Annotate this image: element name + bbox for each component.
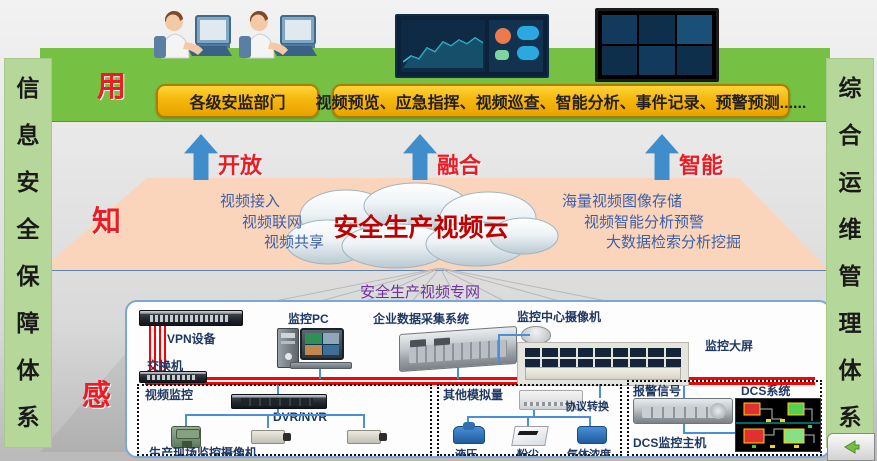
alarm-signal-label: 报警信号: [633, 382, 681, 399]
sense-layer-panel: VPN设备 交换机 监控PC 企业数据采集系统: [125, 300, 831, 458]
user-at-computer-illustration-2: [237, 6, 321, 64]
dcs-system-label: DCS系统: [741, 382, 790, 399]
other-analog-label: 其他模拟量: [443, 386, 503, 403]
arrow-label-intelligent: 智能: [679, 148, 723, 180]
hydraulic-sensor: [453, 426, 485, 444]
analog-bus-v: [533, 410, 535, 418]
vpn-label: VPN设备: [167, 330, 216, 347]
left-panel-char-4: 全: [17, 218, 40, 241]
data-collect-label: 企业数据采集系统: [373, 310, 469, 327]
center-camera-link-line-v: [498, 334, 500, 364]
data-collect-link-line: [457, 368, 459, 379]
layer-key-know: 知: [92, 198, 122, 240]
cloud-title: 安全生产视频云: [276, 182, 566, 270]
arrow-up-icon-fusion: [403, 134, 437, 180]
analog-bus-h: [467, 416, 591, 418]
left-panel-char-2: 息: [17, 124, 40, 147]
center-camera-link-line: [498, 334, 530, 336]
gas-density-sensor: [577, 426, 607, 444]
dcs-host-label: DCS监控主机: [633, 434, 706, 451]
switch-label: 交换机: [147, 357, 183, 374]
center-camera-label: 监控中心摄像机: [517, 308, 601, 325]
site-camera-label: 生产现场监控摄像机: [149, 444, 257, 458]
right-panel-char-7: 体: [839, 359, 862, 382]
right-panel-char-6: 理: [839, 312, 862, 335]
green-arrow-icon: [841, 440, 861, 454]
right-panel-char-3: 运: [839, 171, 862, 194]
right-panel-char-2: 合: [839, 124, 862, 147]
cloud-left-item-2: 视频联网: [140, 213, 302, 234]
video-wall-illustration: [595, 8, 719, 82]
hydraulic-label: 液压: [455, 446, 477, 458]
left-panel-char-5: 保: [17, 265, 40, 288]
dvr-nvr-label: DVR/NVR: [273, 410, 327, 424]
dvr-bus-drop-3: [363, 414, 365, 428]
cloud-shape: 安全生产视频云: [276, 182, 566, 270]
diagram-canvas: 用 知 感 各级安监部门 视频预览、应急指挥、视频巡查、智能分析、事件记录、预警…: [0, 0, 877, 461]
user-at-computer-illustration-1: [152, 6, 236, 64]
cloud-right-item-1: 海量视频图像存储: [562, 192, 777, 213]
left-panel-char-6: 障: [17, 312, 40, 335]
dvr-uplink: [277, 385, 279, 394]
cloud-right-item-2: 视频智能分析预警: [584, 213, 777, 234]
dvr-bus-h: [185, 414, 365, 416]
dcs-system-screen: [735, 398, 821, 452]
right-panel-char-8: 系: [839, 406, 862, 429]
right-panel-char-1: 综: [839, 77, 862, 100]
left-vertical-panel: 信 息 安 全 保 障 体 系: [4, 58, 52, 448]
dust-sensor: [511, 426, 549, 446]
right-vertical-panel: 综 合 运 维 管 理 体 系: [826, 58, 874, 448]
box-camera-1: [251, 430, 285, 444]
box-camera-2: [347, 430, 381, 444]
dashboard-screen-illustration: [395, 14, 549, 78]
pc-monitor: [300, 328, 344, 360]
gas-density-label: 气体浓度: [567, 446, 611, 458]
cloud-right-item-3: 大数据检索分析挖掘: [606, 233, 777, 254]
monitor-pc-label: 监控PC: [288, 310, 329, 327]
left-panel-char-8: 系: [17, 406, 40, 429]
functions-box[interactable]: 视频预览、应急指挥、视频巡查、智能分析、事件记录、预警预测......: [332, 84, 790, 118]
arrow-label-open: 开放: [218, 148, 262, 180]
dcs-host-uplink: [683, 386, 685, 398]
vpn-device: [139, 310, 243, 326]
right-panel-char-4: 维: [839, 218, 862, 241]
right-panel-char-5: 管: [839, 265, 862, 288]
left-panel-char-7: 体: [17, 359, 40, 382]
layer-key-use: 用: [97, 63, 127, 105]
cloud-left-items: 视频接入 视频联网 视频共享: [140, 192, 280, 254]
dcs-host-server: [633, 398, 733, 424]
cloud-left-item-3: 视频共享: [140, 233, 324, 254]
cloud-right-items: 海量视频图像存储 视频智能分析预警 大数据检索分析挖掘: [562, 192, 777, 254]
dvr-bus-v: [277, 409, 279, 415]
left-panel-char-3: 安: [17, 171, 40, 194]
dust-label: 粉尘: [517, 446, 539, 458]
corner-widget[interactable]: [827, 433, 875, 461]
left-panel-char-1: 信: [17, 77, 40, 100]
big-screen-label: 监控大屏: [705, 337, 753, 354]
arrow-up-icon-intelligent: [645, 134, 679, 180]
pc-keyboard: [290, 362, 352, 369]
arrow-up-icon-open: [184, 134, 218, 180]
video-monitor-label: 视频监控: [145, 386, 193, 403]
layer-key-sense: 感: [82, 372, 112, 414]
dept-box[interactable]: 各级安监部门: [156, 84, 319, 118]
dvr-bus-drop-2: [267, 414, 269, 428]
protocol-convert-label: 协议转换: [565, 398, 609, 414]
dvr-nvr-device: [231, 394, 327, 409]
pc-link-line: [319, 369, 321, 379]
arrow-label-fusion: 融合: [437, 148, 481, 180]
cloud-left-item-1: 视频接入: [140, 192, 280, 213]
private-network-label: 安全生产视频专网: [360, 281, 480, 302]
